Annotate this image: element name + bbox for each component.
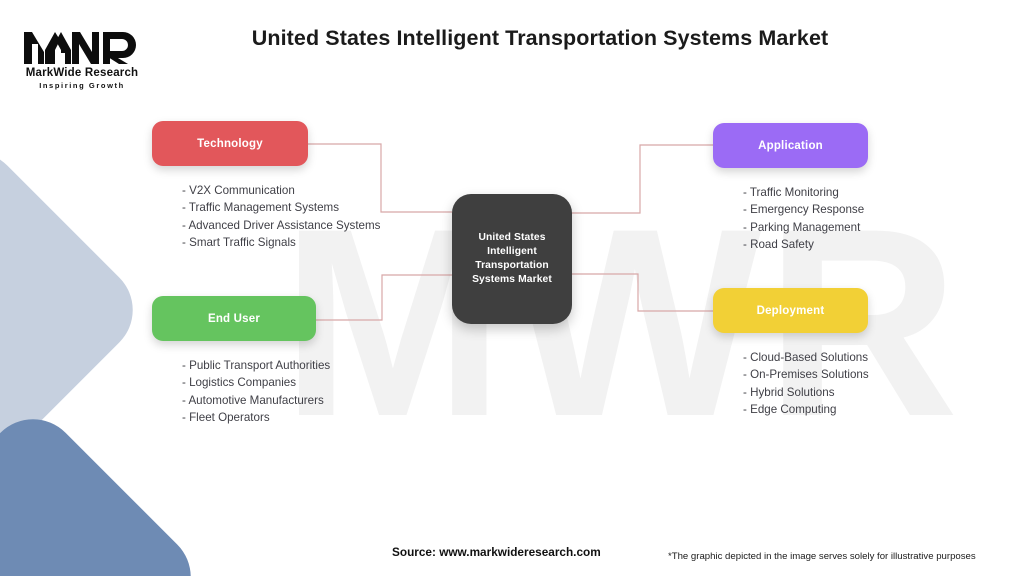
list-item: - Fleet Operators [182,409,316,426]
connector-deployment [572,274,713,311]
list-item: - Public Transport Authorities [182,357,316,374]
list-item: - Road Safety [743,236,868,253]
node-application[interactable]: Application [713,123,868,168]
connector-enduser [316,275,452,320]
center-node[interactable]: United States Intelligent Transportation… [452,194,572,324]
branch-technology: Technology - V2X Communication - Traffic… [152,121,308,252]
node-technology[interactable]: Technology [152,121,308,166]
node-end-user[interactable]: End User [152,296,316,341]
list-item: - Emergency Response [743,201,868,218]
node-deployment[interactable]: Deployment [713,288,868,333]
list-deployment: - Cloud-Based Solutions - On-Premises So… [713,349,868,419]
mwr-logo-icon [14,24,150,66]
list-application: - Traffic Monitoring - Emergency Respons… [713,184,868,254]
list-item: - Advanced Driver Assistance Systems [182,217,308,234]
branch-end-user: End User - Public Transport Authorities … [152,296,316,427]
logo: MarkWide Research Inspiring Growth [14,24,150,90]
page-title: United States Intelligent Transportation… [160,26,920,51]
list-technology: - V2X Communication - Traffic Management… [152,182,308,252]
logo-tagline: Inspiring Growth [14,81,150,90]
list-item: - Automotive Manufacturers [182,392,316,409]
source-label: Source: www.markwideresearch.com [392,545,601,559]
list-item: - Hybrid Solutions [743,384,868,401]
list-end-user: - Public Transport Authorities - Logisti… [152,357,316,427]
branch-deployment: Deployment - Cloud-Based Solutions - On-… [713,288,868,419]
list-item: - Cloud-Based Solutions [743,349,868,366]
list-item: - Edge Computing [743,401,868,418]
list-item: - Parking Management [743,219,868,236]
list-item: - V2X Communication [182,182,308,199]
list-item: - Traffic Management Systems [182,199,308,216]
list-item: - On-Premises Solutions [743,366,868,383]
branch-application: Application - Traffic Monitoring - Emerg… [713,123,868,254]
connector-application [572,145,713,213]
list-item: - Traffic Monitoring [743,184,868,201]
list-item: - Smart Traffic Signals [182,234,308,251]
disclaimer-label: *The graphic depicted in the image serve… [668,551,976,562]
logo-brand-name: MarkWide Research [14,67,150,79]
infographic-canvas: MWR [0,0,1024,576]
list-item: - Logistics Companies [182,374,316,391]
